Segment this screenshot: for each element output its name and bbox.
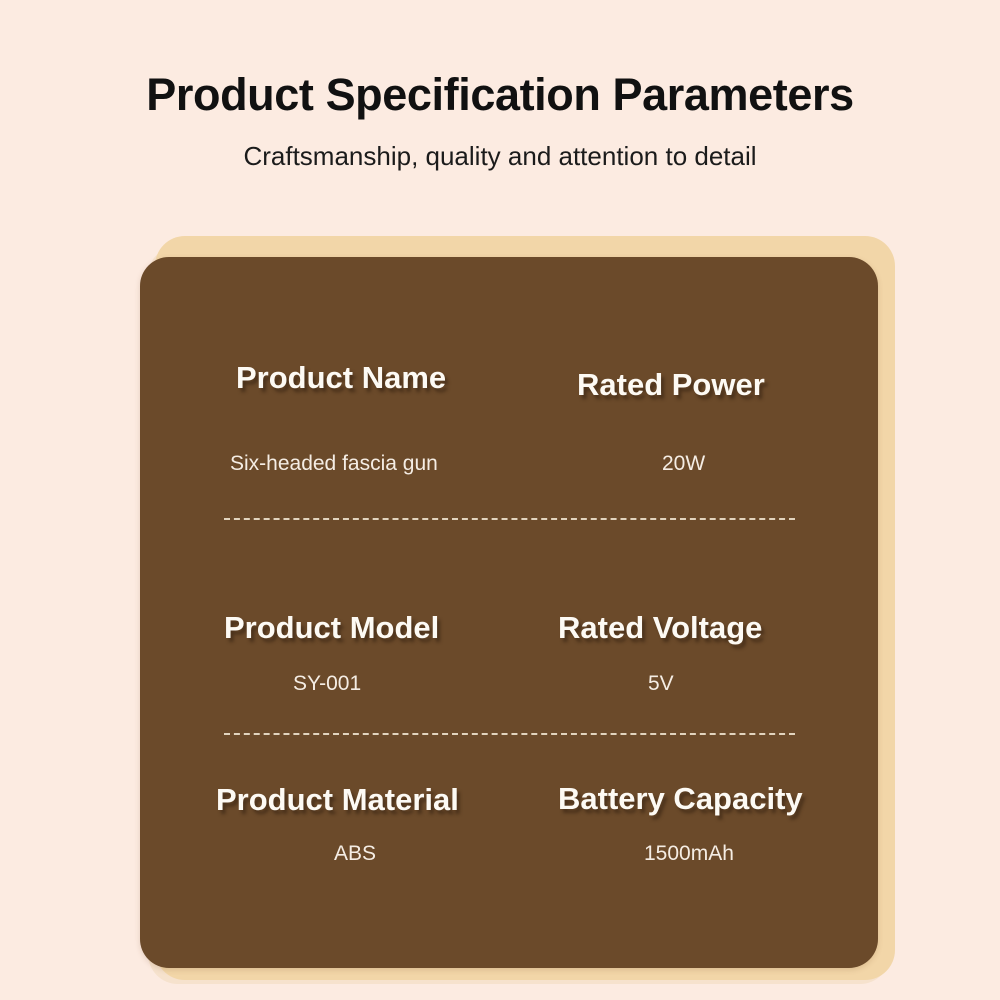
spec-label-battery-capacity: Battery Capacity: [558, 783, 803, 814]
spec-label-product-material: Product Material: [216, 784, 459, 815]
row-divider-2: [224, 733, 795, 735]
spec-value-product-material: ABS: [334, 843, 376, 864]
spec-value-rated-power: 20W: [662, 453, 705, 474]
spec-value-product-model: SY-001: [293, 673, 361, 694]
row-divider-1: [224, 518, 795, 520]
spec-label-product-name: Product Name: [236, 362, 446, 393]
specification-card: Product Name Six-headed fascia gun Rated…: [140, 257, 878, 968]
spec-label-product-model: Product Model: [224, 612, 439, 643]
spec-value-rated-voltage: 5V: [648, 673, 674, 694]
spec-label-rated-voltage: Rated Voltage: [558, 612, 762, 643]
spec-value-battery-capacity: 1500mAh: [644, 843, 734, 864]
spec-label-rated-power: Rated Power: [577, 369, 765, 400]
spec-value-product-name: Six-headed fascia gun: [230, 453, 438, 474]
spec-card-stack: Product Name Six-headed fascia gun Rated…: [0, 0, 1000, 1000]
